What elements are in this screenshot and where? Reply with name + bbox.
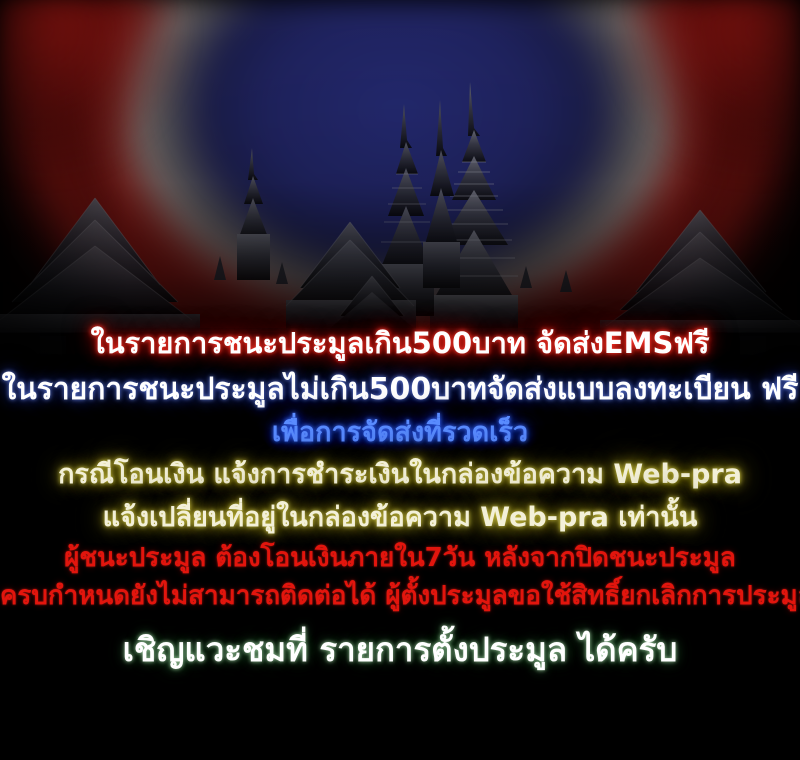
auction-terms-banner: ในรายการชนะประมูลเกิน500บาท จัดส่งEMSฟรี… <box>0 0 800 760</box>
line-fast-delivery: เพื่อการจัดส่งที่รวดเร็ว <box>0 412 800 453</box>
line-registered-free: ในรายการชนะประมูลไม่เกิน500บาทจัดส่งแบบล… <box>0 367 800 412</box>
line-change-address: แจ้งเปลี่ยนที่อยู่ในกล่องข้อความ Web-pra… <box>0 496 800 539</box>
line-invite-visit: เชิญแวะชมที่ รายการตั้งประมูล ได้ครับ <box>0 615 800 685</box>
terms-text-block: ในรายการชนะประมูลเกิน500บาท จัดส่งEMSฟรี… <box>0 320 800 685</box>
temple-silhouette <box>0 70 800 360</box>
line-notify-payment: กรณีโอนเงิน แจ้งการชำระเงินในกล่องข้อควา… <box>0 453 800 496</box>
line-cancel-right: ครบกำหนดยังไม่สามารถติดต่อได้ ผู้ตั้งประ… <box>0 577 800 615</box>
line-transfer-7-days: ผู้ชนะประมูล ต้องโอนเงินภายใน7วัน หลังจา… <box>0 539 800 577</box>
line-ems-free: ในรายการชนะประมูลเกิน500บาท จัดส่งEMSฟรี <box>0 320 800 367</box>
